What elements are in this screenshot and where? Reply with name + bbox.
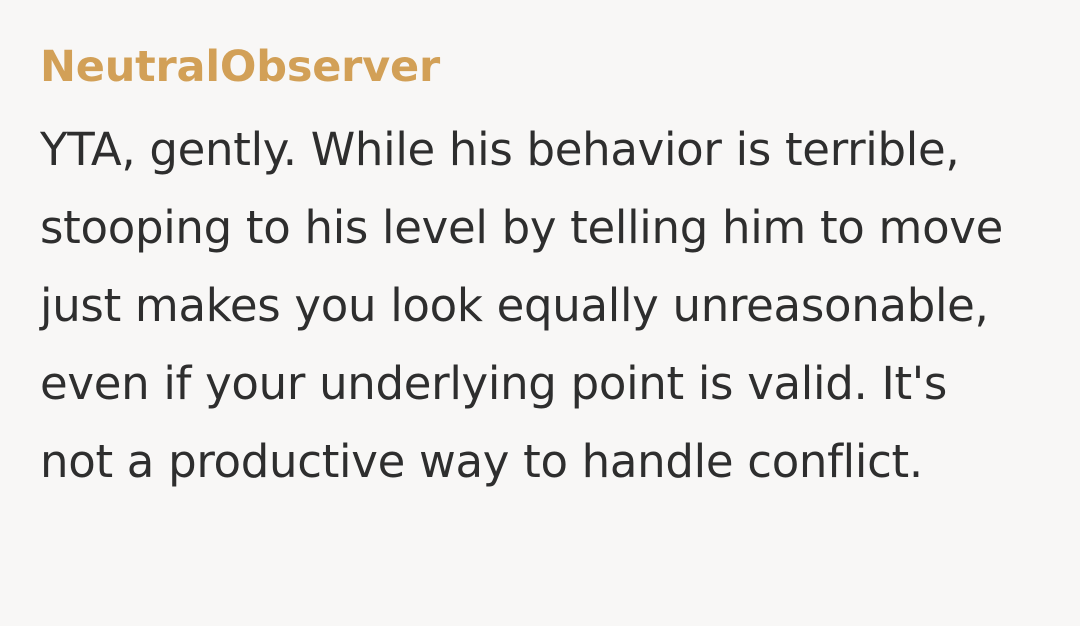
comment-card: NeutralObserver YTA, gently. While his b…: [0, 0, 1080, 626]
comment-body-text: YTA, gently. While his behavior is terri…: [40, 111, 1030, 501]
comment-author-name[interactable]: NeutralObserver: [40, 42, 1038, 93]
